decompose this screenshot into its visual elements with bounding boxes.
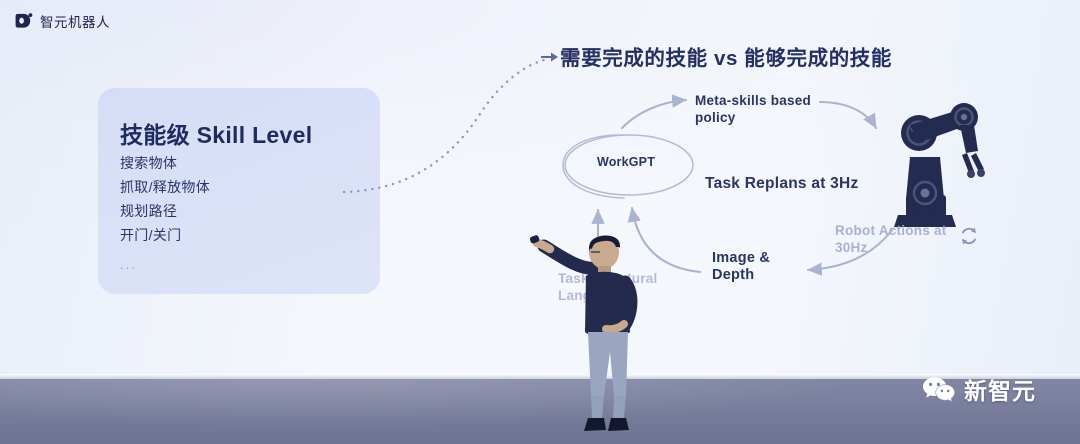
arrow-right-icon xyxy=(541,50,559,62)
brand-header: 智元机器人 xyxy=(14,11,110,31)
list-item: 抓取/释放物体 xyxy=(120,175,210,199)
node-meta-skills-label: Meta-skills based policy xyxy=(695,92,811,126)
node-image-depth-label: Image & Depth xyxy=(712,250,770,284)
list-item-more: ... xyxy=(120,247,210,277)
node-robot-actions-label: Robot Actions at 30Hz xyxy=(835,222,947,256)
list-item: 开门/关门 xyxy=(120,223,210,247)
robot-arm-icon xyxy=(870,95,990,230)
skill-card-list: 搜索物体 抓取/释放物体 规划路径 开门/关门 ... xyxy=(120,151,210,277)
refresh-cycle-icon xyxy=(958,225,980,247)
list-item: 搜索物体 xyxy=(120,151,210,175)
brand-name: 智元机器人 xyxy=(40,11,110,31)
wechat-icon xyxy=(922,375,956,404)
slide-capture: 智元机器人 技能级 Skill Level 搜索物体 抓取/释放物体 规划路径 … xyxy=(0,0,1080,444)
node-task-replans-label: Task Replans at 3Hz xyxy=(705,175,859,192)
list-item: 规划路径 xyxy=(120,199,210,223)
skill-card-title: 技能级 Skill Level xyxy=(120,116,312,150)
presenter-figure xyxy=(528,222,656,444)
zhiyuan-d-logo-icon xyxy=(14,13,33,30)
watermark: 新智元 xyxy=(922,372,1036,406)
slide-headline: 需要完成的技能 vs 能够完成的技能 xyxy=(560,41,892,71)
watermark-text: 新智元 xyxy=(964,372,1036,406)
